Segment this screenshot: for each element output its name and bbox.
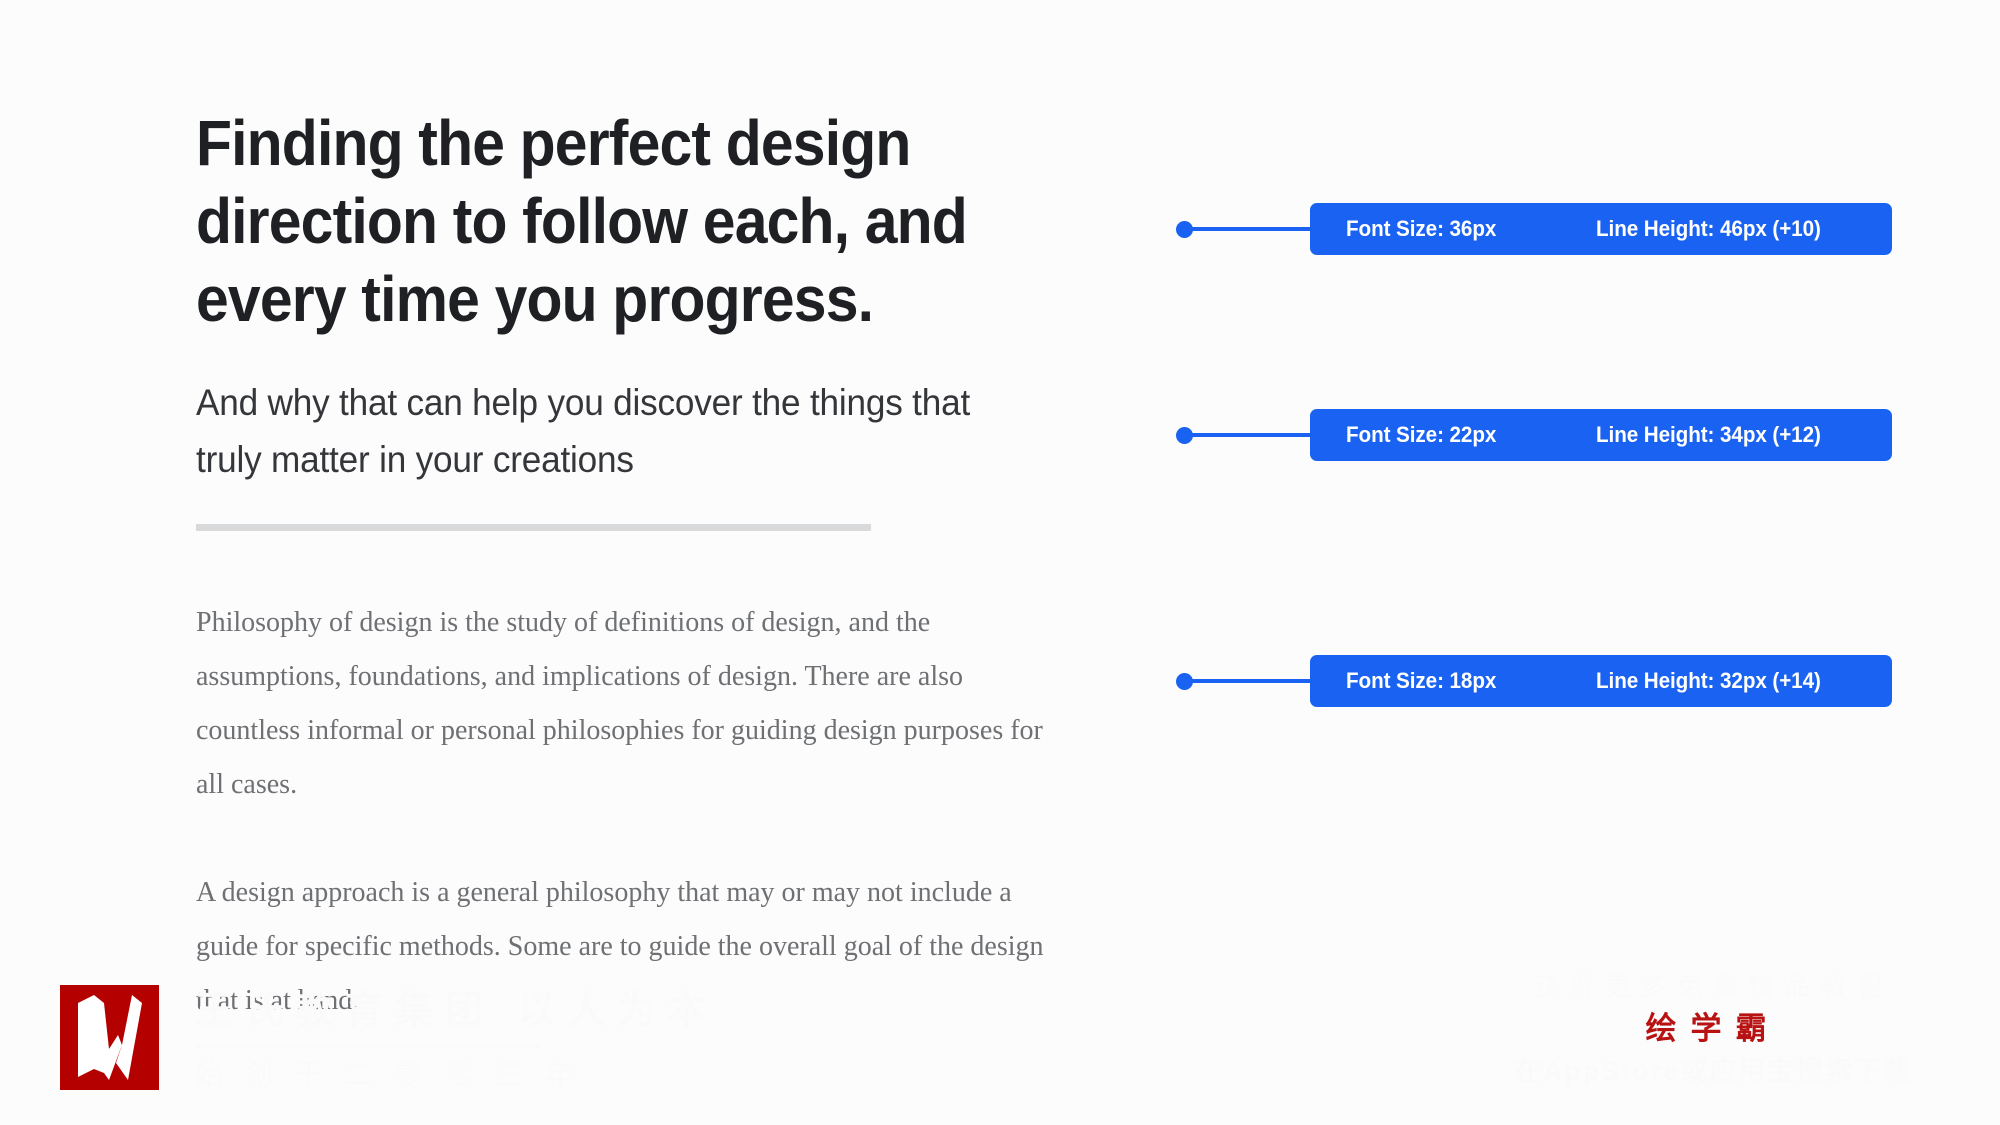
section-divider bbox=[196, 524, 871, 531]
font-size-label: Font Size: 22px bbox=[1346, 422, 1581, 448]
typography-sample-column: Finding the perfect design direction to … bbox=[196, 104, 1076, 488]
watermark-left-text: 王氏教育集团 以人为本 始创于二零零三年 bbox=[195, 985, 718, 1092]
annotation-callout-body: Font Size: 18px Line Height: 32px (+14) bbox=[1176, 655, 1892, 707]
annotation-callout-headline: Font Size: 36px Line Height: 46px (+10) bbox=[1176, 203, 1892, 255]
watermark-download-line: 在AppStore或应用宝搜索下载 bbox=[1498, 1054, 1928, 1088]
spec-badge-body[interactable]: Font Size: 18px Line Height: 32px (+14) bbox=[1310, 655, 1892, 707]
watermark-right: 获得更多免费精品教程 绘学霸 在AppStore或应用宝搜索下载 bbox=[1498, 972, 1928, 1088]
annotation-callout-subtitle: Font Size: 22px Line Height: 34px (+12) bbox=[1176, 409, 1892, 461]
body-paragraph-1: Philosophy of design is the study of def… bbox=[196, 596, 1066, 812]
line-height-label: Line Height: 34px (+12) bbox=[1596, 422, 1840, 448]
watermark-company-line: 王氏教育集团 以人为本 bbox=[195, 989, 718, 1033]
watermark-promo-line: 获得更多免费精品教程 bbox=[1498, 972, 1928, 1002]
watermark-brand-name: 绘学霸 bbox=[1498, 1008, 1928, 1050]
font-size-label: Font Size: 36px bbox=[1346, 216, 1581, 242]
connector-dot-icon bbox=[1176, 427, 1193, 444]
connector-dot-icon bbox=[1176, 221, 1193, 238]
wangshi-logo-icon bbox=[60, 985, 159, 1090]
watermark-rule bbox=[195, 1045, 540, 1048]
connector-line-icon bbox=[1192, 433, 1312, 437]
page-title: Finding the perfect design direction to … bbox=[196, 104, 1006, 338]
page-subtitle: And why that can help you discover the t… bbox=[196, 374, 1032, 488]
body-text-column: Philosophy of design is the study of def… bbox=[196, 596, 1066, 1028]
spec-badge-headline[interactable]: Font Size: 36px Line Height: 46px (+10) bbox=[1310, 203, 1892, 255]
line-height-label: Line Height: 46px (+10) bbox=[1596, 216, 1840, 242]
slide-canvas: Finding the perfect design direction to … bbox=[0, 0, 2000, 1125]
line-height-label: Line Height: 32px (+14) bbox=[1596, 668, 1840, 694]
connector-line-icon bbox=[1192, 227, 1312, 231]
watermark-left: 王氏教育集团 以人为本 始创于二零零三年 bbox=[60, 985, 718, 1092]
font-size-label: Font Size: 18px bbox=[1346, 668, 1581, 694]
connector-line-icon bbox=[1192, 679, 1312, 683]
connector-dot-icon bbox=[1176, 673, 1193, 690]
watermark-founded-line: 始创于二零零三年 bbox=[195, 1058, 718, 1092]
spec-badge-subtitle[interactable]: Font Size: 22px Line Height: 34px (+12) bbox=[1310, 409, 1892, 461]
